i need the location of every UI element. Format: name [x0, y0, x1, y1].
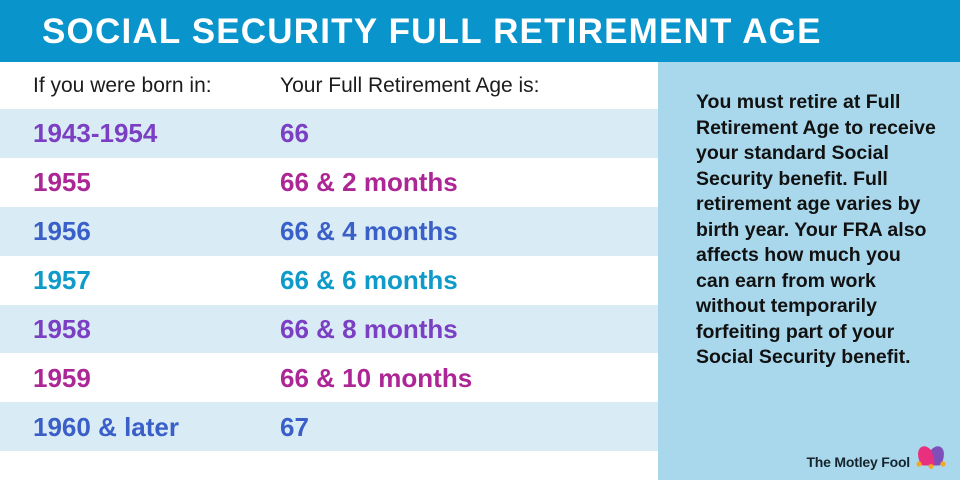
- cell-birth-year: 1959: [0, 365, 280, 391]
- cell-birth-year: 1957: [0, 267, 280, 293]
- cell-retirement-age: 66 & 2 months: [280, 169, 458, 195]
- cell-retirement-age: 66 & 6 months: [280, 267, 458, 293]
- cell-retirement-age: 66 & 4 months: [280, 218, 458, 244]
- cell-retirement-age: 67: [280, 414, 309, 440]
- table-row: 1956 66 & 4 months: [0, 207, 658, 256]
- table-row: 1943-1954 66: [0, 109, 658, 158]
- cell-birth-year: 1943-1954: [0, 120, 280, 146]
- logo-wordmark: The Motley Fool: [806, 455, 910, 470]
- infographic-root: SOCIAL SECURITY FULL RETIREMENT AGE If y…: [0, 0, 960, 480]
- retirement-age-table: If you were born in: Your Full Retiremen…: [0, 62, 658, 480]
- jester-hat-icon: [914, 444, 948, 470]
- side-note-text: You must retire at Full Retirement Age t…: [696, 90, 936, 371]
- cell-retirement-age: 66 & 8 months: [280, 316, 458, 342]
- cell-birth-year: 1958: [0, 316, 280, 342]
- cell-birth-year: 1956: [0, 218, 280, 244]
- column-header-birth-year: If you were born in:: [0, 75, 280, 96]
- motley-fool-logo: The Motley Fool: [806, 444, 948, 470]
- table-row: 1960 & later 67: [0, 402, 658, 451]
- cell-retirement-age: 66 & 10 months: [280, 365, 472, 391]
- table-row: 1955 66 & 2 months: [0, 158, 658, 207]
- column-header-retirement-age: Your Full Retirement Age is:: [280, 75, 540, 96]
- page-title: SOCIAL SECURITY FULL RETIREMENT AGE: [0, 14, 822, 49]
- header-banner: SOCIAL SECURITY FULL RETIREMENT AGE: [0, 0, 960, 62]
- cell-birth-year: 1960 & later: [0, 414, 280, 440]
- body-area: If you were born in: Your Full Retiremen…: [0, 62, 960, 480]
- table-row: 1959 66 & 10 months: [0, 353, 658, 402]
- table-row: 1957 66 & 6 months: [0, 256, 658, 305]
- table-header-row: If you were born in: Your Full Retiremen…: [0, 62, 658, 109]
- side-note-panel: You must retire at Full Retirement Age t…: [658, 62, 960, 480]
- cell-birth-year: 1955: [0, 169, 280, 195]
- table-row: 1958 66 & 8 months: [0, 305, 658, 354]
- cell-retirement-age: 66: [280, 120, 309, 146]
